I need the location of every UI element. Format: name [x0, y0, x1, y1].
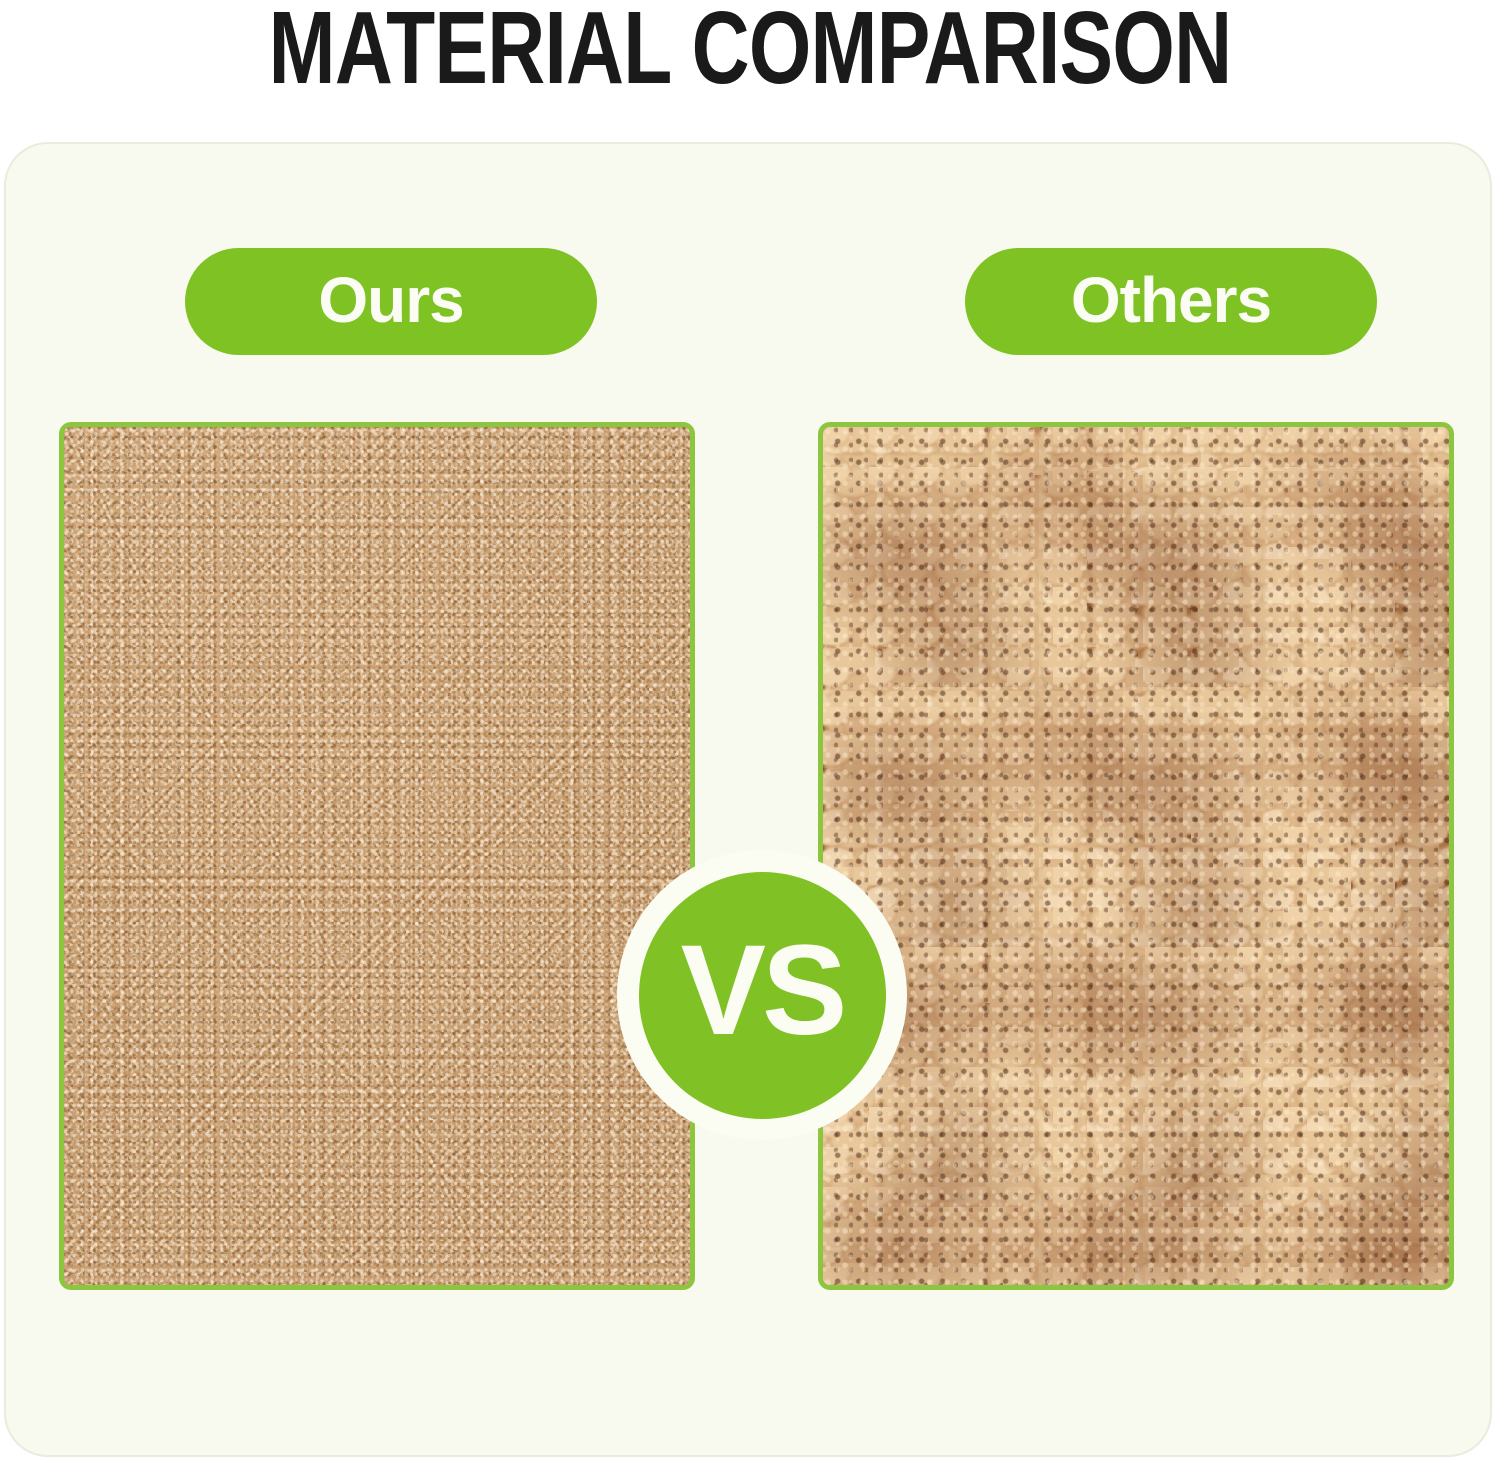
sample-panel-others [818, 422, 1454, 1290]
page-title: MATERIAL COMPARISON [165, 0, 1335, 102]
sparse-coarse-cork-texture [823, 427, 1449, 1285]
sample-panel-ours [59, 422, 695, 1290]
vs-badge-circle: VS [639, 872, 886, 1119]
badge-others-label: Others [1071, 268, 1271, 332]
badge-ours: Ours [185, 248, 597, 355]
vs-badge-label: VS [681, 927, 844, 1055]
comparison-infographic: MATERIAL COMPARISON Ours Others VS HIGH … [0, 0, 1500, 1470]
comparison-card: Ours Others VS HIGH DENSITY SPARSE CPRD [4, 142, 1492, 1457]
vs-badge: VS [617, 850, 907, 1140]
badge-ours-label: Ours [318, 268, 463, 332]
dense-fine-cork-texture [64, 427, 690, 1285]
badge-others: Others [965, 248, 1377, 355]
